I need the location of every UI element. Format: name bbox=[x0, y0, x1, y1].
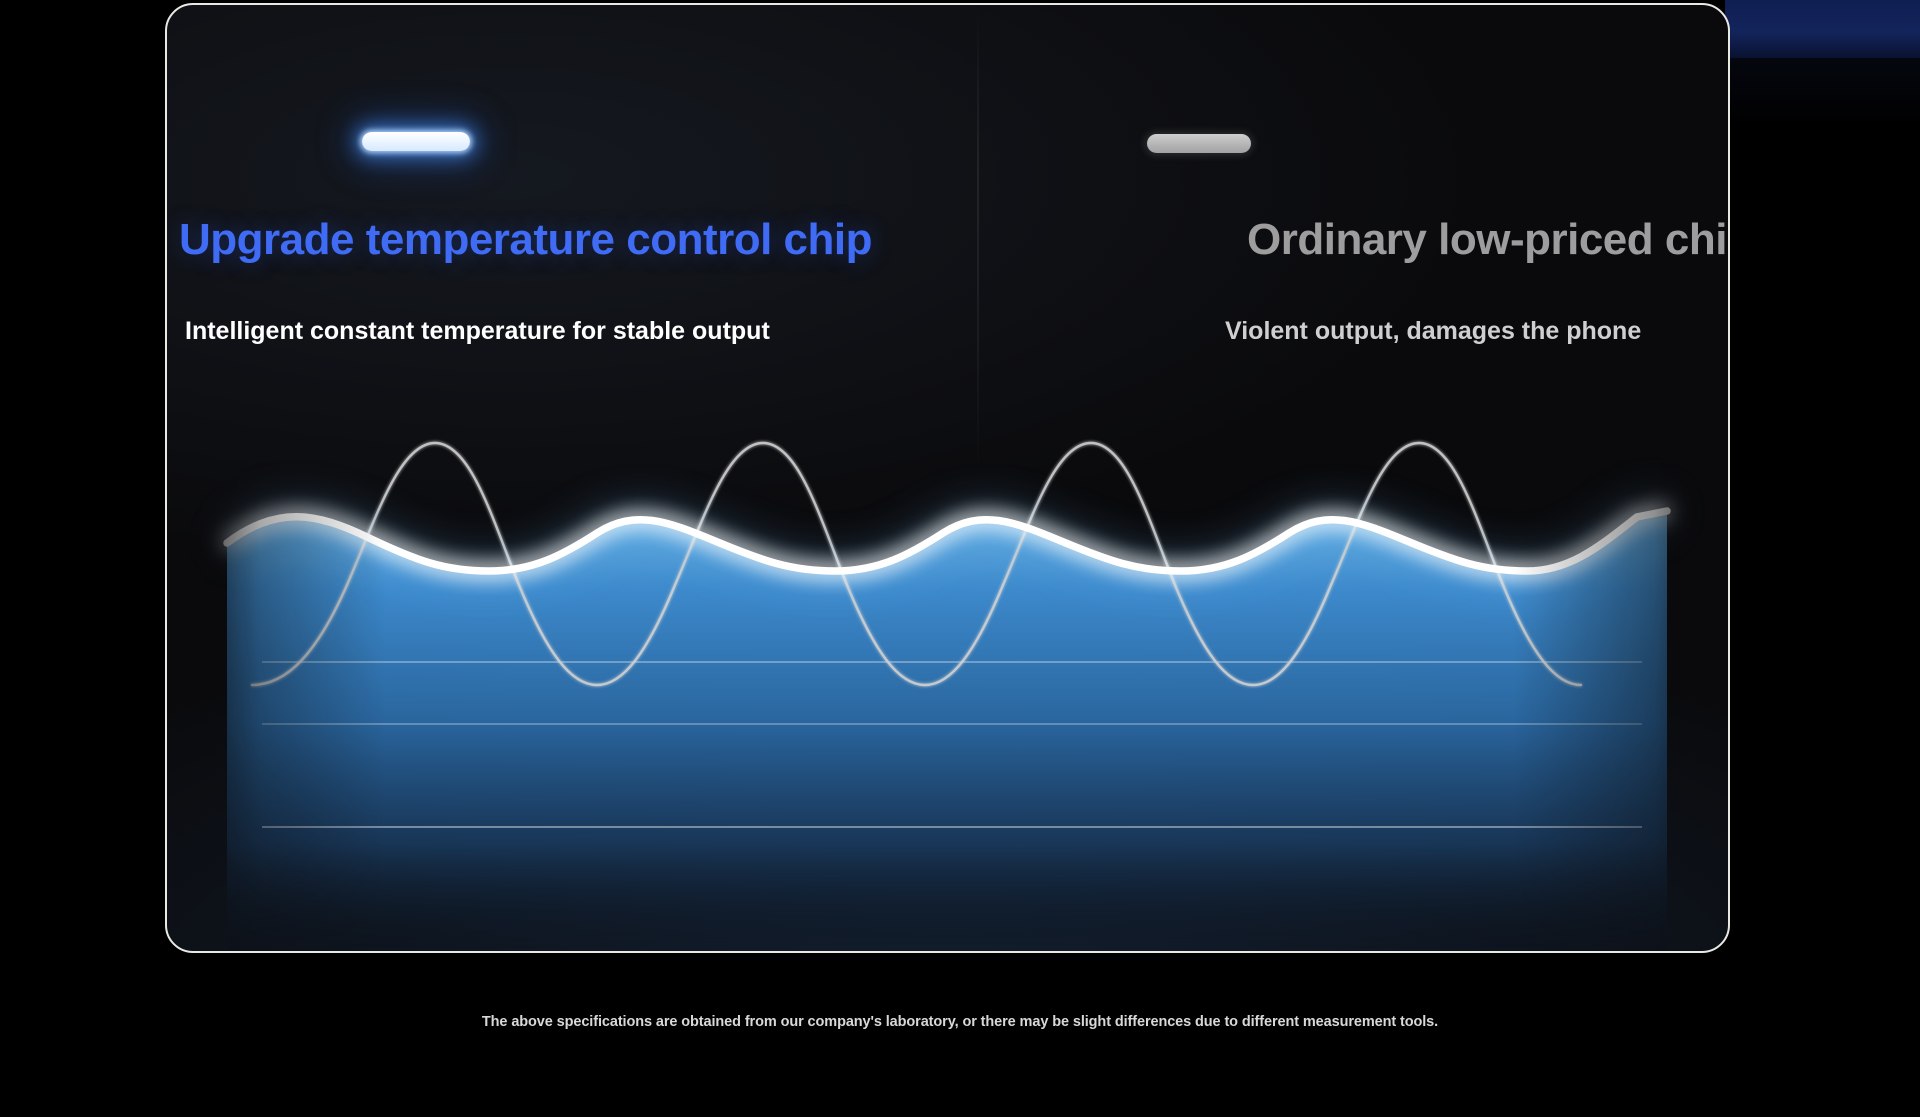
background-blue-band-fade bbox=[1725, 58, 1920, 128]
right-headline: Ordinary low-priced chip bbox=[1247, 215, 1730, 265]
disclaimer-text: The above specifications are obtained fr… bbox=[0, 1014, 1920, 1030]
left-headline: Upgrade temperature control chip bbox=[179, 215, 872, 265]
comparison-card: Upgrade temperature control chip Intelli… bbox=[165, 3, 1730, 953]
gray-pill-indicator-icon bbox=[1147, 134, 1251, 153]
screenshot-root: Upgrade temperature control chip Intelli… bbox=[0, 0, 1920, 1117]
right-subheadline: Violent output, damages the phone bbox=[1225, 317, 1641, 346]
blue-pill-indicator-icon bbox=[362, 132, 470, 151]
left-subheadline: Intelligent constant temperature for sta… bbox=[185, 317, 770, 346]
waveform-chart-svg bbox=[167, 385, 1730, 953]
waveform-chart bbox=[167, 385, 1730, 953]
background-blue-band bbox=[1725, 0, 1920, 58]
